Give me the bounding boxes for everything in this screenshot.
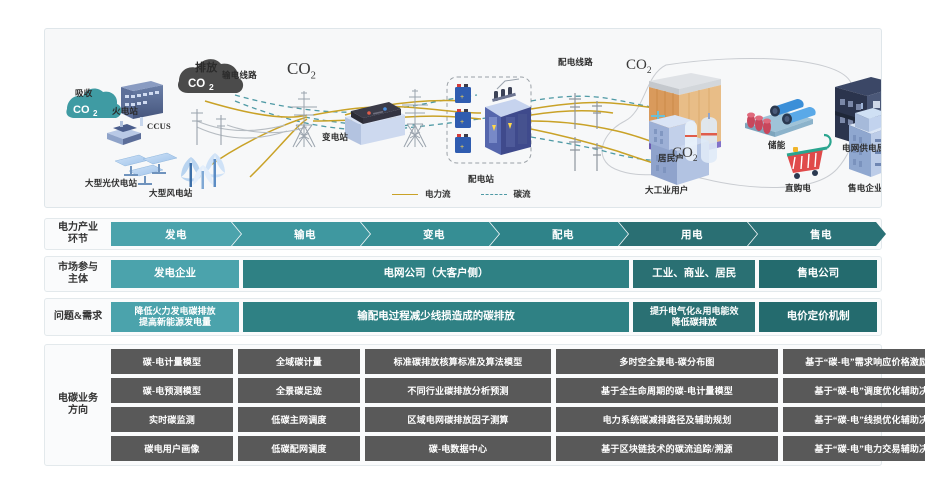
distribution-pylon-icon bbox=[569, 93, 602, 171]
label-pv-plant: 大型光伏电站 bbox=[85, 177, 137, 189]
need-segment-1[interactable]: 降低火力发电碳排放 提高新能源发电量 bbox=[111, 302, 239, 332]
svg-text:CO: CO bbox=[73, 104, 90, 116]
chain-step-label: 售电 bbox=[810, 227, 832, 242]
label-retail-company: 售电企业 bbox=[848, 182, 882, 194]
label-grid-supply-bureau: 电网供电局 bbox=[842, 142, 882, 154]
problems-and-needs-band: 问题&需求 降低火力发电碳排放 提高新能源发电量输配电过程减少线损造成的碳排放提… bbox=[44, 298, 882, 336]
need-segment-track: 降低火力发电碳排放 提高新能源发电量输配电过程减少线损造成的碳排放提升电气化&用… bbox=[111, 302, 877, 332]
need-segment-4[interactable]: 电价定价机制 bbox=[759, 302, 877, 332]
biz-cell-r1-c1[interactable]: 碳-电计量模型 bbox=[111, 349, 233, 374]
chain-step-6[interactable]: 售电 bbox=[748, 222, 886, 246]
biz-cell-r3-c5[interactable]: 基于“碳-电”线损优化辅助决策 bbox=[783, 407, 925, 432]
energy-storage-icon bbox=[745, 99, 816, 137]
chain-step-5[interactable]: 用电 bbox=[619, 222, 757, 246]
label-emit: 排放 bbox=[195, 59, 217, 75]
market-segment-2[interactable]: 电网公司（大客户侧） bbox=[243, 260, 629, 288]
chain-step-1[interactable]: 发电 bbox=[111, 222, 241, 246]
power-flow-line-swatch bbox=[392, 194, 418, 195]
band-label-chain: 电力产业 环节 bbox=[45, 222, 111, 247]
biz-cell-r2-c4[interactable]: 基于全生命周期的碳-电计量模型 bbox=[556, 378, 778, 403]
market-segment-1[interactable]: 发电企业 bbox=[111, 260, 239, 288]
label-storage: 储能 bbox=[768, 139, 785, 151]
label-distribution-line: 配电线路 bbox=[558, 56, 593, 68]
biz-cell-r4-c4[interactable]: 基于区块链技术的碳流追踪/溯源 bbox=[556, 436, 778, 461]
biz-cell-r2-c3[interactable]: 不同行业碳排放分析预测 bbox=[365, 378, 551, 403]
legend-label-carbon-flow: 碳流 bbox=[514, 188, 531, 200]
biz-cell-r2-c1[interactable]: 碳-电预测模型 bbox=[111, 378, 233, 403]
label-absorb: 吸收 bbox=[75, 87, 92, 99]
chain-step-3[interactable]: 变电 bbox=[361, 222, 499, 246]
need-segment-2[interactable]: 输配电过程减少线损造成的碳排放 bbox=[243, 302, 629, 332]
power-industry-chain-band: 电力产业 环节 发电输电变电配电用电售电 bbox=[44, 218, 882, 250]
chevron-track: 发电输电变电配电用电售电 bbox=[111, 222, 877, 246]
carbon-electricity-business-band: 电碳业务 方向 碳-电计量模型全域碳计量标准碳排放核算标准及算法模型多时空全景电… bbox=[44, 344, 882, 466]
diagram-illustration: CO 2 CO 2 bbox=[45, 29, 881, 207]
chain-step-label: 变电 bbox=[423, 227, 445, 242]
market-participants-band: 市场参与 主体 发电企业电网公司（大客户侧）工业、商业、居民售电公司 bbox=[44, 256, 882, 292]
svg-text:+: + bbox=[460, 94, 464, 101]
need-segment-3[interactable]: 提升电气化&用电能效 降低碳排放 bbox=[633, 302, 755, 332]
small-pylon-icon bbox=[191, 109, 226, 145]
band-label-need: 问题&需求 bbox=[45, 311, 111, 324]
svg-text:CO: CO bbox=[188, 78, 205, 90]
wind-plant-icon bbox=[181, 153, 225, 189]
svg-text:+: + bbox=[460, 119, 464, 126]
market-band-body: 发电企业电网公司（大客户侧）工业、商业、居民售电公司 bbox=[111, 257, 881, 291]
chain-step-2[interactable]: 输电 bbox=[232, 222, 370, 246]
biz-cell-r1-c2[interactable]: 全域碳计量 bbox=[238, 349, 360, 374]
biz-cell-r2-c5[interactable]: 基于“碳-电”调度优化辅助决策 bbox=[783, 378, 925, 403]
biz-cell-r4-c3[interactable]: 碳-电数据中心 bbox=[365, 436, 551, 461]
band-label-biz: 电碳业务 方向 bbox=[45, 393, 111, 418]
chain-step-4[interactable]: 配电 bbox=[490, 222, 628, 246]
biz-cell-r1-c3[interactable]: 标准碳排放核算标准及算法模型 bbox=[365, 349, 551, 374]
market-segment-track: 发电企业电网公司（大客户侧）工业、商业、居民售电公司 bbox=[111, 260, 877, 288]
chain-step-label: 输电 bbox=[294, 227, 316, 242]
biz-cell-r3-c2[interactable]: 低碳主网调度 bbox=[238, 407, 360, 432]
chain-step-label: 用电 bbox=[681, 227, 703, 242]
biz-cell-r4-c1[interactable]: 碳电用户画像 bbox=[111, 436, 233, 461]
label-thermal-plant: 火电站 bbox=[112, 105, 138, 117]
biz-band-body: 碳-电计量模型全域碳计量标准碳排放核算标准及算法模型多时空全景电-碳分布图基于“… bbox=[111, 345, 881, 465]
biz-cell-r4-c5[interactable]: 基于“碳-电”电力交易辅助决策 bbox=[783, 436, 925, 461]
label-wind-plant: 大型风电站 bbox=[149, 187, 193, 199]
diagram-legend: 电力流 碳流 bbox=[392, 188, 531, 200]
biz-cell-r3-c3[interactable]: 区域电网碳排放因子测算 bbox=[365, 407, 551, 432]
label-substation: 变电站 bbox=[322, 131, 348, 143]
biz-cell-r2-c2[interactable]: 全景碳足迹 bbox=[238, 378, 360, 403]
biz-cell-r1-c5[interactable]: 基于“碳-电”需求响应价格激励机制 bbox=[783, 349, 925, 374]
band-label-market: 市场参与 主体 bbox=[45, 262, 111, 287]
co2-mark-industry: CO2 bbox=[672, 145, 698, 164]
business-direction-grid: 碳-电计量模型全域碳计量标准碳排放核算标准及算法模型多时空全景电-碳分布图基于“… bbox=[111, 349, 877, 461]
power-carbon-flow-diagram: CO 2 CO 2 bbox=[44, 28, 882, 208]
svg-text:+: + bbox=[460, 144, 464, 151]
legend-label-power-flow: 电力流 bbox=[425, 188, 451, 200]
biz-cell-r3-c4[interactable]: 电力系统碳减排路径及辅助规划 bbox=[556, 407, 778, 432]
label-big-industry: 大工业用户 bbox=[645, 184, 689, 196]
label-direct-purchase: 直购电 bbox=[785, 182, 811, 194]
transmission-tower-icon bbox=[291, 91, 317, 147]
svg-text:2: 2 bbox=[93, 109, 98, 118]
label-ccus: CCUS bbox=[147, 121, 171, 131]
chain-step-label: 发电 bbox=[165, 227, 187, 242]
biz-cell-r3-c1[interactable]: 实时碳监测 bbox=[111, 407, 233, 432]
market-segment-4[interactable]: 售电公司 bbox=[759, 260, 877, 288]
label-transmission-line: 输电线路 bbox=[222, 69, 257, 81]
biz-cell-r4-c2[interactable]: 低碳配网调度 bbox=[238, 436, 360, 461]
label-distribution-station: 配电站 bbox=[468, 173, 494, 185]
svg-text:2: 2 bbox=[209, 82, 214, 92]
need-band-body: 降低火力发电碳排放 提高新能源发电量输配电过程减少线损造成的碳排放提升电气化&用… bbox=[111, 299, 881, 335]
ccus-icon bbox=[107, 117, 143, 145]
transmission-tower-icon bbox=[402, 89, 428, 147]
market-segment-3[interactable]: 工业、商业、居民 bbox=[633, 260, 755, 288]
distribution-station-icon: + + + bbox=[455, 79, 531, 155]
chain-step-label: 配电 bbox=[552, 227, 574, 242]
carbon-flow-line-swatch bbox=[481, 194, 507, 195]
shopping-cart-icon bbox=[787, 135, 831, 179]
co2-mark-residential: CO2 bbox=[626, 57, 652, 76]
chain-band-body: 发电输电变电配电用电售电 bbox=[111, 219, 881, 249]
co2-mark-transmission: CO2 bbox=[287, 59, 316, 81]
biz-cell-r1-c4[interactable]: 多时空全景电-碳分布图 bbox=[556, 349, 778, 374]
